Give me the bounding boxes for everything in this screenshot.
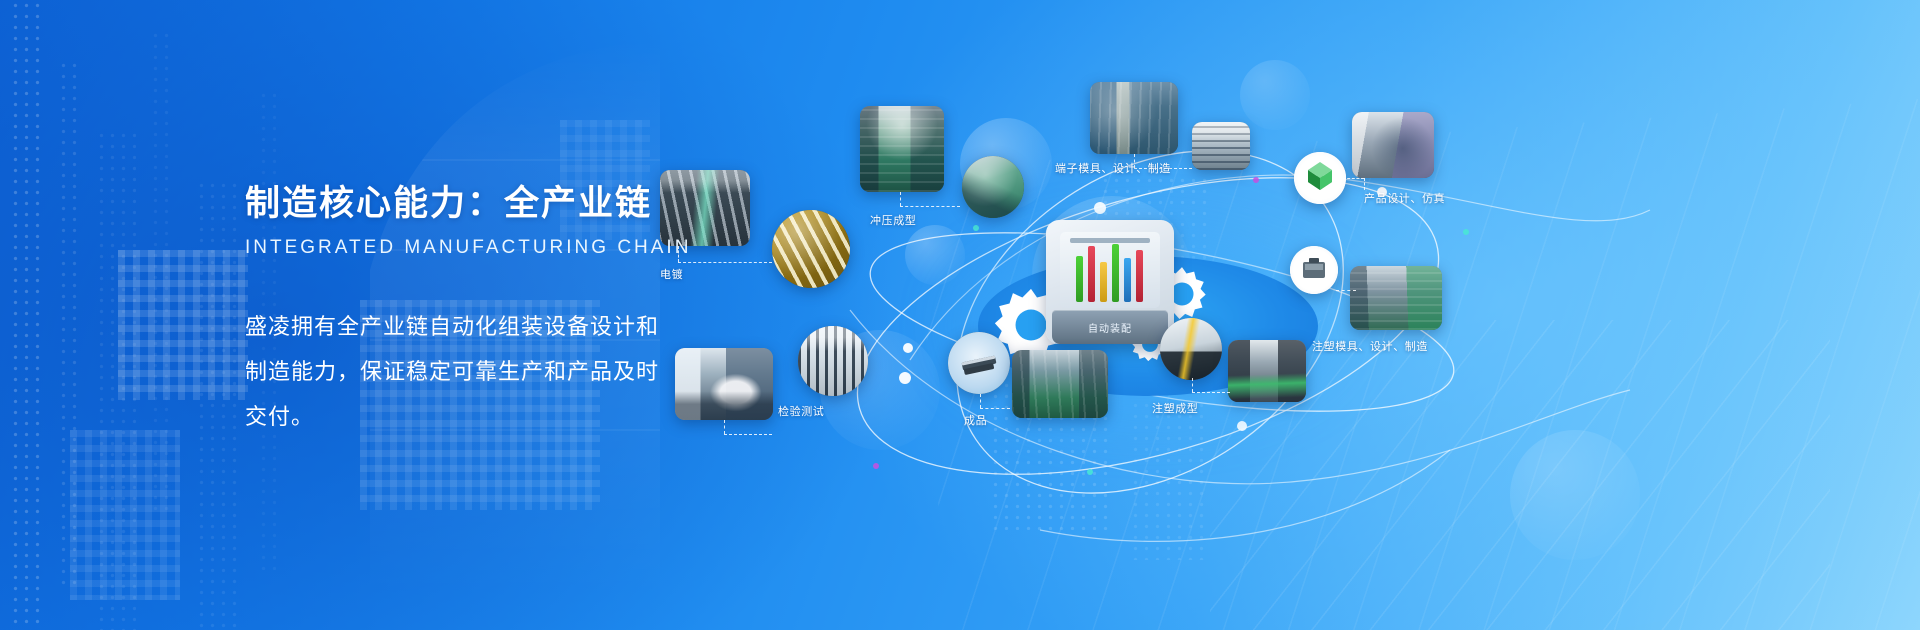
stamping-detail-thumbnail xyxy=(962,156,1024,218)
injection-molding-connector-v xyxy=(1192,378,1193,392)
finished-product-label: 成品 xyxy=(964,412,987,428)
finished-product-thumbnail xyxy=(948,332,1010,394)
hub-label: 自动装配 xyxy=(1052,320,1168,335)
inspection-test-connector-h xyxy=(724,434,772,435)
manufacturing-chain-diagram: 自动装配 电镀 冲 xyxy=(790,60,1920,580)
finished-product-line-thumbnail xyxy=(1012,350,1108,418)
inspection-test-label: 检验测试 xyxy=(778,403,824,419)
stamping-label: 冲压成型 xyxy=(870,212,916,228)
product-design-connector-v xyxy=(1364,178,1365,190)
stamping-connector-v xyxy=(900,192,901,206)
terminal-mold-detail-thumbnail xyxy=(1192,122,1250,170)
injection-molding-thumbnail xyxy=(1228,340,1306,402)
product-design-connector xyxy=(1338,178,1364,179)
terminal-mold-label: 端子模具、设计、制造 xyxy=(1055,160,1171,176)
product-design-label: 产品设计、仿真 xyxy=(1364,190,1445,206)
finished-product-connector-h xyxy=(980,408,1010,409)
assembly-machine-illustration: 自动装配 xyxy=(1046,220,1174,344)
injection-molding-connector-h xyxy=(1192,392,1230,393)
injection-mold-connector xyxy=(1336,290,1356,291)
injection-mold-label: 注塑模具、设计、制造 xyxy=(1312,338,1428,354)
electroplating-thumbnail xyxy=(660,170,750,246)
grid-decoration-1 xyxy=(118,250,248,400)
electroplating-connector-h xyxy=(678,262,772,263)
banner-description: 盛凌拥有全产业链自动化组装设备设计和制造能力，保证稳定可靠生产和产品及时交付。 xyxy=(245,304,675,439)
terminal-mold-thumbnail xyxy=(1090,82,1178,154)
page-title: 制造核心能力：全产业链 xyxy=(245,185,665,224)
injection-molding-label: 注塑成型 xyxy=(1152,400,1198,416)
stamping-connector-h xyxy=(900,206,960,207)
stamping-thumbnail xyxy=(860,106,944,192)
injection-mold-icon-thumbnail xyxy=(1290,246,1338,294)
finished-product-connector-v xyxy=(980,394,981,408)
product-design-thumbnail xyxy=(1352,112,1434,178)
inspection-test-connector-v xyxy=(724,420,725,434)
injection-mold-thumbnail xyxy=(1350,266,1442,330)
inspection-test-thumbnail xyxy=(675,348,773,420)
injection-molding-icon-thumbnail xyxy=(1160,318,1222,380)
banner-copy: 制造核心能力：全产业链 INTEGRATED MANUFACTURING CHA… xyxy=(245,185,665,439)
electroplating-detail-thumbnail xyxy=(772,210,850,288)
grid-decoration-3 xyxy=(70,430,180,600)
page-subtitle: INTEGRATED MANUFACTURING CHAIN xyxy=(245,237,665,259)
inspection-test-detail-thumbnail xyxy=(798,326,868,396)
